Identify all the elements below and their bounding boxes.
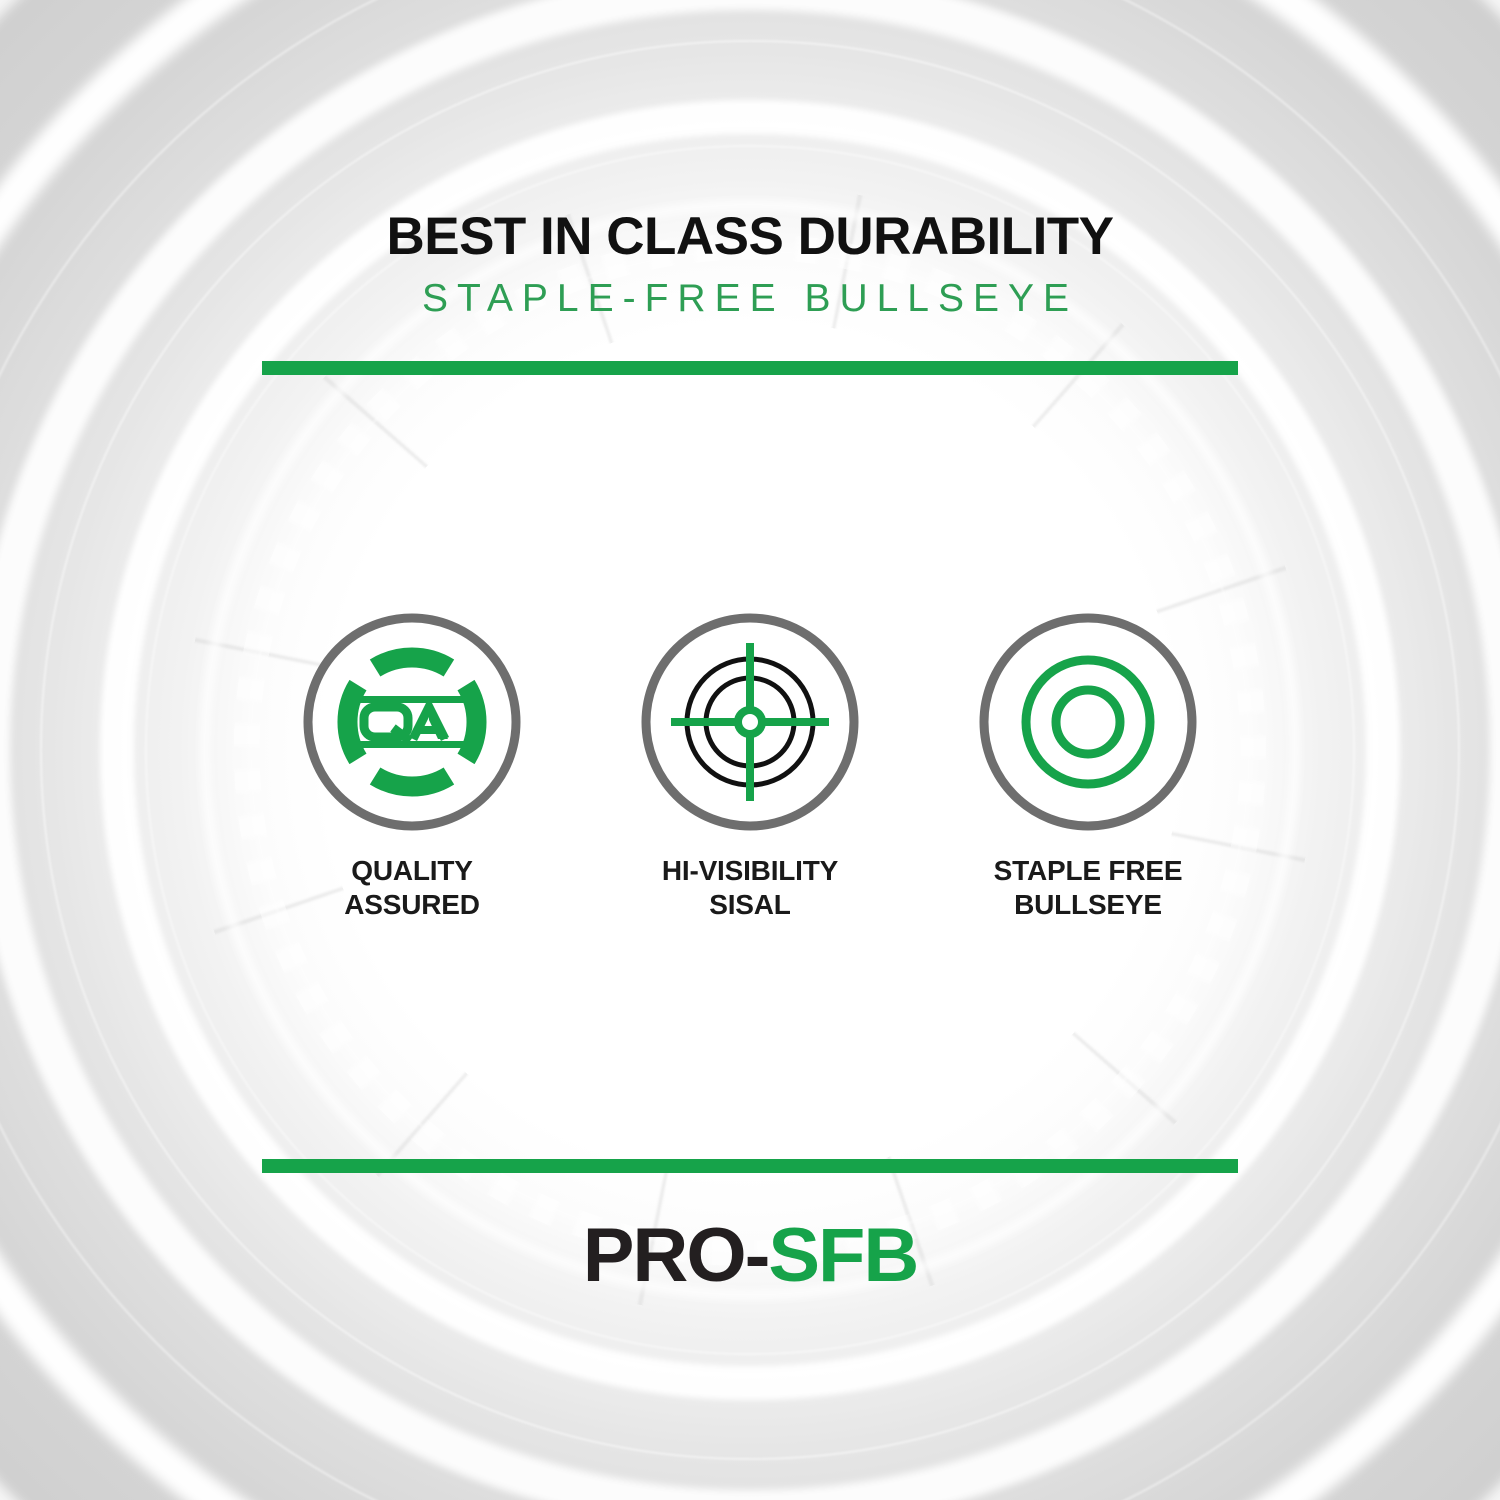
feature-list: QA QUALITY ASSURED	[262, 608, 1238, 921]
brand-logo-pro: PRO-	[583, 1213, 769, 1298]
brand-logo: PRO-SFB	[0, 1212, 1500, 1299]
product-feature-panel: BEST IN CLASS DURABILITY STAPLE-FREE BUL…	[0, 0, 1500, 1500]
feature-label-quality-assured: QUALITY ASSURED	[344, 854, 480, 921]
qa-badge-icon: QA	[298, 608, 526, 836]
divider-top	[262, 361, 1238, 375]
feature-item-hi-visibility-sisal: HI-VISIBILITY SISAL	[600, 608, 900, 921]
feature-item-quality-assured: QA QUALITY ASSURED	[262, 608, 562, 921]
divider-bottom	[262, 1159, 1238, 1173]
crosshair-target-icon	[636, 608, 864, 836]
feature-label-staple-free-bullseye: STAPLE FREE BULLSEYE	[994, 854, 1183, 921]
page-subtitle: STAPLE-FREE BULLSEYE	[0, 277, 1500, 321]
brand-logo-sfb: SFB	[768, 1213, 917, 1298]
page-title: BEST IN CLASS DURABILITY	[0, 206, 1500, 267]
concentric-bullseye-icon	[974, 608, 1202, 836]
feature-label-hi-visibility-sisal: HI-VISIBILITY SISAL	[662, 854, 838, 921]
feature-item-staple-free-bullseye: STAPLE FREE BULLSEYE	[938, 608, 1238, 921]
